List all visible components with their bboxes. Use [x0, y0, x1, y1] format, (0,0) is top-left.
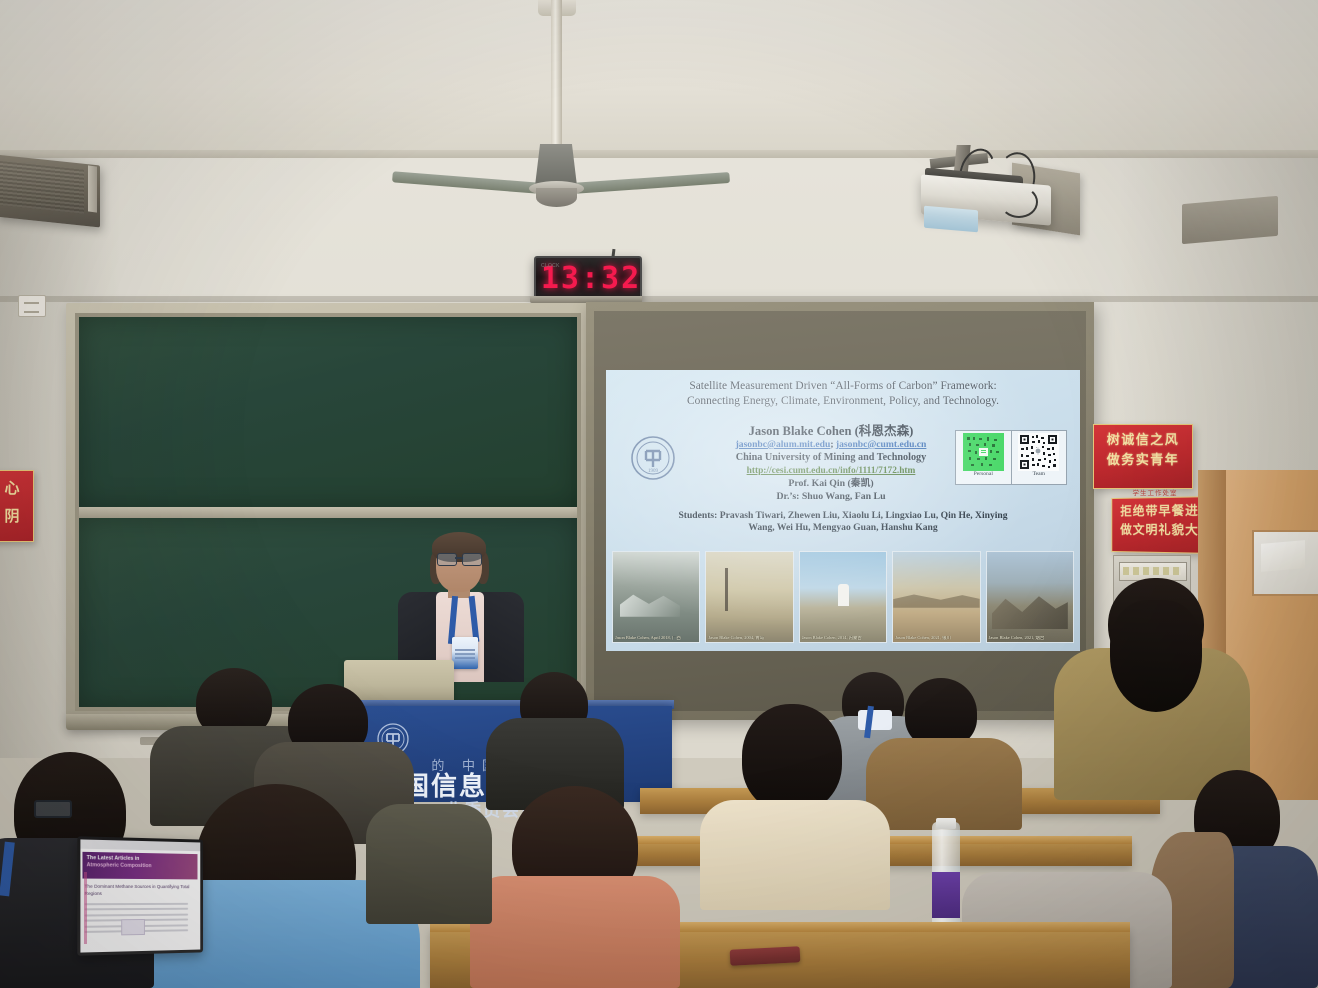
- slide-photo-5: Jason Blake Cohen, 2021, 烟台: [986, 551, 1074, 643]
- projection-screen: Satellite Measurement Driven “All-Forms …: [586, 302, 1094, 720]
- email-primary[interactable]: jasonbc@alum.mit.edu: [736, 439, 831, 450]
- slide-professor: Prof. Kai Qin (秦凯): [662, 477, 1000, 490]
- presenter-badge: [452, 637, 478, 669]
- slide-presenter-name: Jason Blake Cohen (科恩杰森): [662, 424, 1000, 439]
- laptop-hero-text: The Latest Articles in Atmospheric Compo…: [87, 855, 152, 870]
- slide-students-line-2: Wang, Wei Hu, Mengyao Guan, Hanshu Kang: [612, 522, 1074, 534]
- presenter-laptop[interactable]: [344, 660, 454, 702]
- slide-photo-1: Jason Blake Cohen, April 2018, 广西: [612, 551, 700, 643]
- slide-students-line-1: Students: Pravash Tiwari, Zhewen Liu, Xi…: [612, 510, 1074, 522]
- fan-bottom-cap: [536, 188, 577, 207]
- laptop-article-line-2: Regions: [85, 891, 191, 898]
- standing-attendee-hair-long: [1110, 600, 1202, 712]
- laptop-browser-bar[interactable]: [80, 839, 200, 851]
- slide-url[interactable]: http://cesi.cumt.edu.cn/info/1111/7172.h…: [662, 465, 1000, 477]
- wall-speaker-right: [1182, 196, 1278, 244]
- wall-sign-left: 心 阴: [0, 470, 34, 542]
- audience-body-back-2: [866, 738, 1022, 830]
- laptop-text-line: [85, 908, 188, 911]
- laptop-page-thumbnail: [121, 919, 145, 935]
- water-bottle-label: [932, 872, 960, 918]
- slide-doctors: Dr.’s: Shuo Wang, Fan Lu: [662, 490, 1000, 503]
- qr-personal-icon: [963, 433, 1004, 471]
- wall-sign-integrity-attribution: 学生工作处室: [1120, 487, 1190, 497]
- laptop-hero-subtitle: Atmospheric Composition: [87, 862, 152, 869]
- audience-body-front-1: [470, 876, 680, 988]
- chalkboard-divider: [79, 507, 577, 518]
- fan-motor-housing: [535, 144, 577, 186]
- wall-speaker: [0, 155, 100, 228]
- slide-affiliation: China University of Mining and Technolog…: [662, 451, 1000, 464]
- qr-code-group: Personal: [955, 430, 1067, 485]
- fan-downrod: [551, 0, 562, 165]
- qr-team-icon: [1018, 433, 1059, 471]
- door-window: [1252, 530, 1318, 596]
- svg-text:1909: 1909: [648, 469, 659, 474]
- audience-collar-back-1: [858, 710, 892, 730]
- slide-photo-5-caption: Jason Blake Cohen, 2021, 烟台: [988, 636, 1072, 641]
- screen-surface: Satellite Measurement Driven “All-Forms …: [594, 311, 1086, 711]
- qr-team-cell[interactable]: Team: [1012, 431, 1067, 484]
- laptop-text-line: [85, 903, 188, 905]
- water-bottle-cap: [936, 818, 956, 829]
- slide-photo-4: Jason Blake Cohen, 2021, 银川: [892, 551, 980, 643]
- audience-body-mid-1-puffer: [700, 800, 890, 910]
- projector-cable-3: [1000, 186, 1038, 218]
- qr-personal-svg: [963, 433, 1004, 471]
- slide-title: Satellite Measurement Driven “All-Forms …: [616, 379, 1070, 409]
- slide-photo-strip: Jason Blake Cohen, April 2018, 广西 Jason …: [612, 551, 1074, 643]
- speaker-grill: [0, 161, 84, 214]
- projector-lens: [924, 206, 978, 233]
- laptop-webpage: The Latest Articles in Atmospheric Compo…: [80, 839, 200, 952]
- qr-personal-label: Personal: [974, 472, 993, 478]
- audience-head-mid-1: [742, 704, 842, 812]
- clock-brand-label: CLOCK: [541, 263, 560, 269]
- audience-body-front-4: [366, 804, 492, 924]
- chalkboard-panel-top: [79, 317, 577, 507]
- qr-team-label: Team: [1033, 472, 1045, 478]
- audience-laptop[interactable]: The Latest Articles in Atmospheric Compo…: [77, 836, 203, 955]
- slide-students: Students: Pravash Tiwari, Zhewen Liu, Xi…: [612, 510, 1074, 535]
- qr-team-svg: [1018, 433, 1059, 471]
- laptop-page-hero: The Latest Articles in Atmospheric Compo…: [82, 852, 197, 880]
- wall-sign-left-line-1: 心: [0, 475, 33, 503]
- wall-sign-integrity-line-1: 树诚信之风: [1094, 430, 1192, 450]
- presentation-slide: Satellite Measurement Driven “All-Forms …: [606, 370, 1080, 651]
- email-secondary[interactable]: jasonbc@cumt.edu.cn: [836, 439, 926, 450]
- slide-photo-1-caption: Jason Blake Cohen, April 2018, 广西: [614, 636, 698, 641]
- audience-glasses-icon: [34, 800, 72, 818]
- slide-photo-2: Jason Blake Cohen, 2004, 青岛: [705, 551, 793, 643]
- lecture-hall-scene: CLOCK 13:32 Satellite Measurement Driven…: [0, 0, 1318, 988]
- glasses-lens-right: [462, 553, 482, 566]
- slide-emails: jasonbc@alum.mit.edu; jasonbc@cumt.edu.c…: [662, 439, 1000, 451]
- laptop-article-title: The Dominant Methane Sources in Quantify…: [85, 884, 191, 898]
- slide-photo-3: Jason Blake Cohen, 2014, 内蒙古: [799, 551, 887, 643]
- slide-photo-4-caption: Jason Blake Cohen, 2021, 银川: [894, 636, 978, 641]
- laptop-sidebar-accent: [84, 872, 87, 944]
- slide-photo-2-caption: Jason Blake Cohen, 2004, 青岛: [707, 636, 791, 641]
- wall-sign-integrity-line-2: 做务实青年: [1094, 450, 1192, 470]
- wall-outlet[interactable]: [18, 295, 46, 317]
- qr-personal-cell[interactable]: Personal: [956, 431, 1012, 484]
- laptop-text-line: [85, 913, 188, 916]
- slide-author-block: Jason Blake Cohen (科恩杰森) jasonbc@alum.mi…: [662, 424, 1000, 503]
- ceiling: [0, 0, 1318, 158]
- slide-photo-3-caption: Jason Blake Cohen, 2014, 内蒙古: [801, 636, 885, 641]
- wall-sign-left-line-2: 阴: [0, 503, 33, 531]
- wall-sign-integrity: 树诚信之风 做务实青年: [1093, 424, 1193, 489]
- presenter-glasses-icon: [437, 553, 482, 565]
- speaker-bracket: [88, 165, 97, 212]
- slide-title-line-1: Satellite Measurement Driven “All-Forms …: [616, 379, 1070, 394]
- glasses-lens-left: [437, 553, 457, 566]
- slide-title-line-2: Connecting Energy, Climate, Environment,…: [616, 394, 1070, 409]
